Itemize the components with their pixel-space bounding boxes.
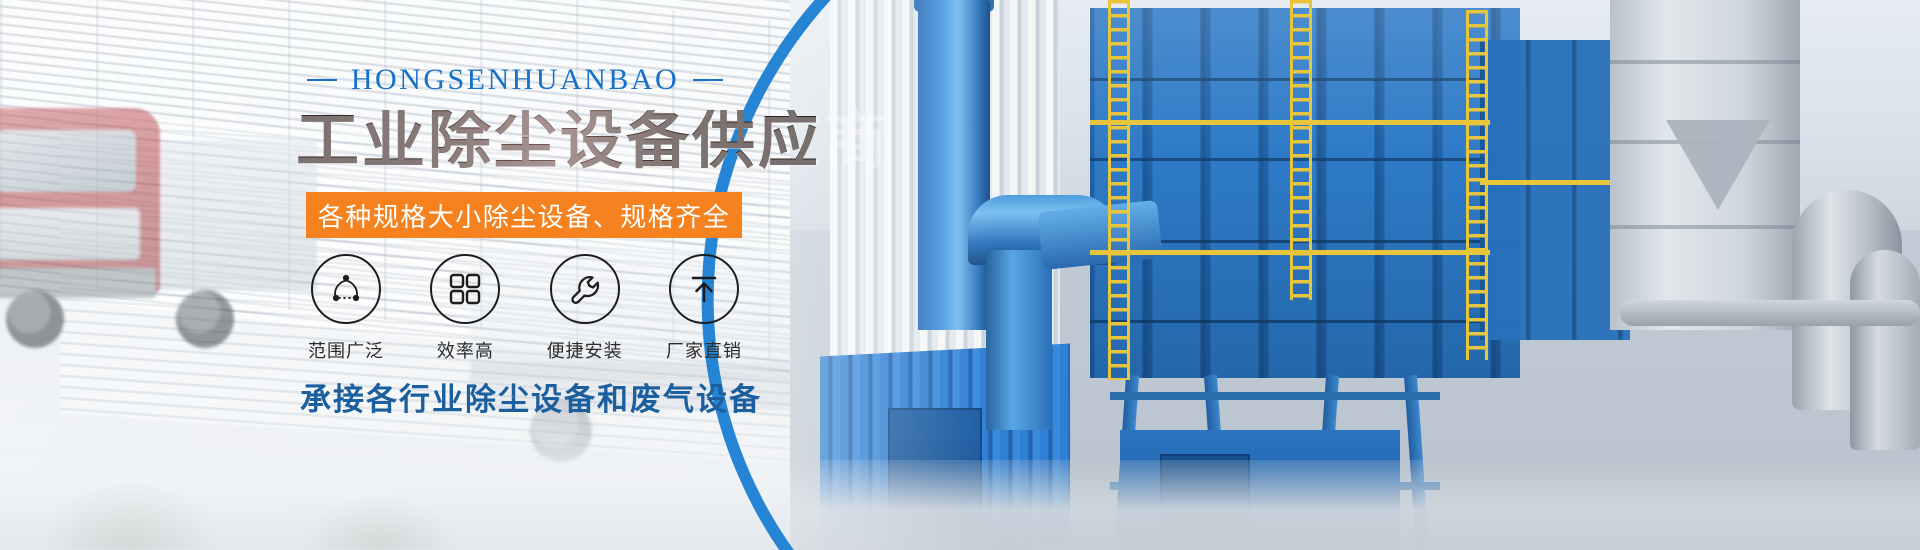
feature-icon-circle bbox=[311, 254, 381, 324]
feature-label: 效率高 bbox=[437, 337, 494, 363]
grid-squares-icon bbox=[448, 272, 482, 306]
promo-banner: HONGSENHUANBAO 工业除尘设备供应商 各种规格大小除尘设备、规格齐全 bbox=[0, 0, 1920, 550]
feature-item-factory-direct[interactable]: 厂家直销 bbox=[658, 254, 750, 363]
cyclone-cone bbox=[1666, 120, 1770, 210]
feature-label: 厂家直销 bbox=[666, 337, 742, 363]
network-nodes-icon bbox=[328, 271, 364, 307]
baghouse-unit-rear bbox=[1480, 40, 1630, 340]
steel-vessel-small bbox=[1850, 250, 1920, 450]
up-arrow-icon bbox=[687, 272, 721, 306]
support-crossbeam bbox=[1110, 392, 1440, 400]
industrial-photo bbox=[790, 0, 1920, 550]
yellow-handrail bbox=[1090, 120, 1490, 125]
yellow-ladder bbox=[1466, 10, 1488, 360]
yellow-ladder bbox=[1290, 0, 1312, 300]
tagline: 承接各行业除尘设备和废气设备 bbox=[300, 374, 750, 419]
wrench-icon bbox=[567, 271, 603, 307]
feature-icon-circle bbox=[430, 254, 500, 324]
dash-right-icon bbox=[693, 79, 723, 81]
photo-ground bbox=[790, 460, 1920, 550]
banner-content: HONGSENHUANBAO 工业除尘设备供应商 各种规格大小除尘设备、规格齐全 bbox=[0, 0, 820, 550]
feature-item-efficiency[interactable]: 效率高 bbox=[419, 254, 511, 363]
feature-label: 范围广泛 bbox=[308, 337, 384, 363]
dash-left-icon bbox=[307, 79, 337, 81]
feature-item-installation[interactable]: 便捷安装 bbox=[539, 254, 631, 363]
subtitle-bar: 各种规格大小除尘设备、规格齐全 bbox=[306, 192, 742, 238]
feature-label: 便捷安装 bbox=[547, 337, 623, 363]
horizontal-pipe bbox=[1620, 300, 1920, 326]
blue-silo bbox=[918, 0, 990, 330]
feature-list: 范围广泛 效率高 bbox=[300, 254, 750, 363]
brand-pinyin: HONGSENHUANBAO bbox=[351, 63, 679, 97]
feature-item-range[interactable]: 范围广泛 bbox=[300, 254, 392, 363]
subtitle-text: 各种规格大小除尘设备、规格齐全 bbox=[318, 197, 731, 234]
yellow-ladder bbox=[1108, 0, 1130, 380]
feature-icon-circle bbox=[550, 254, 620, 324]
brand-eyebrow: HONGSENHUANBAO bbox=[300, 63, 730, 97]
page-title: 工业除尘设备供应商 bbox=[296, 110, 816, 173]
duct-vertical bbox=[986, 250, 1052, 430]
yellow-handrail bbox=[1090, 250, 1490, 255]
feature-icon-circle bbox=[669, 254, 739, 324]
